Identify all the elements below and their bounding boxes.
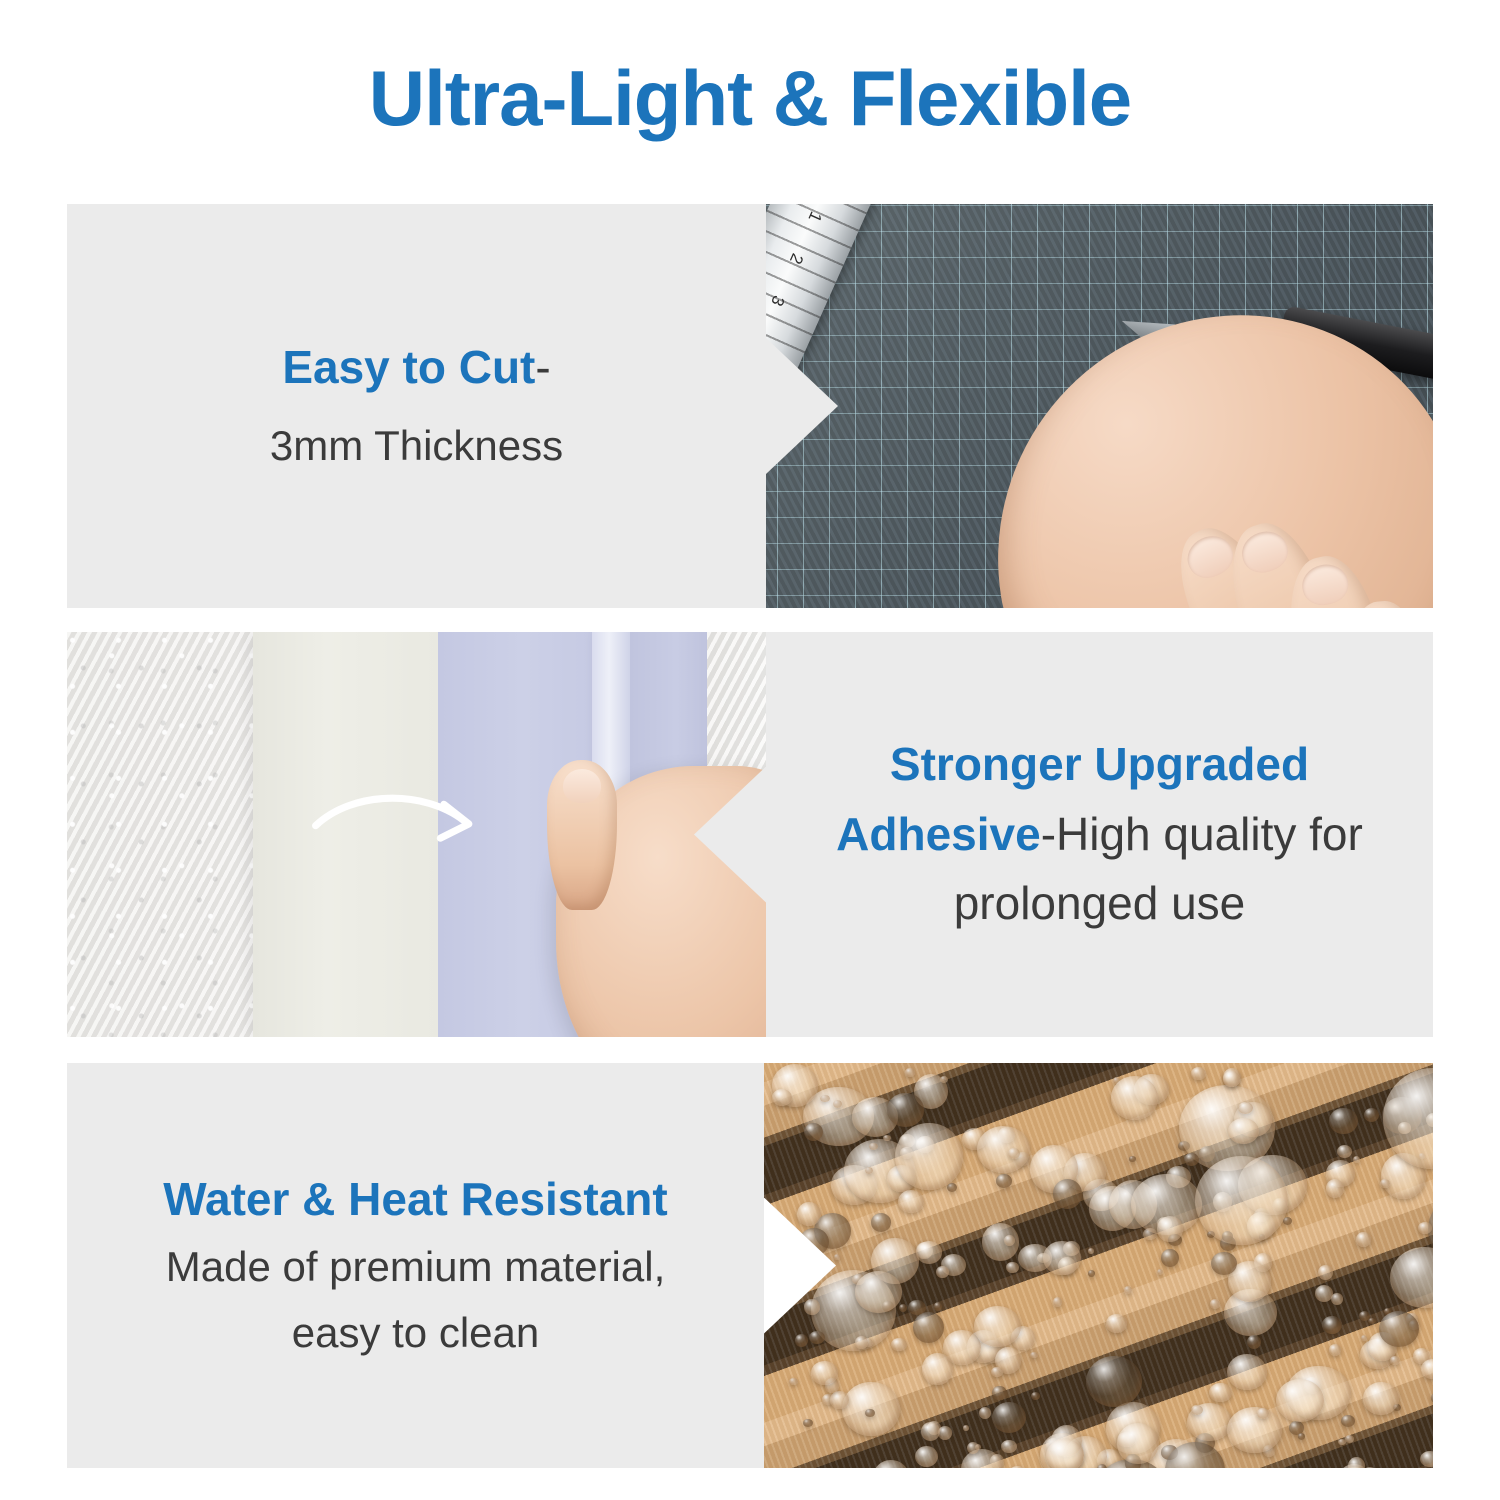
water-droplet <box>1157 1216 1183 1241</box>
water-droplet <box>1315 1285 1333 1302</box>
water-droplet <box>1418 1222 1432 1234</box>
water-droplet <box>809 1331 825 1344</box>
feature-headline-line-1: Stronger Upgraded <box>890 738 1309 790</box>
water-droplet <box>811 1361 838 1385</box>
water-droplet <box>1031 1392 1040 1400</box>
feature-headline-dash: - <box>535 341 550 393</box>
thumb <box>547 760 617 910</box>
water-droplet <box>913 1312 943 1343</box>
cutting-slat-panel-photo: 10123456789201 <box>766 204 1433 608</box>
water-droplet <box>1348 1457 1365 1468</box>
water-droplet <box>1238 1102 1253 1114</box>
water-droplet <box>1318 1265 1333 1280</box>
water-droplet <box>869 1143 877 1150</box>
feature-text-water-heat-resistant: Water & Heat Resistant Made of premium m… <box>67 1063 764 1468</box>
water-droplet <box>1324 1318 1341 1335</box>
water-droplet <box>992 1402 1026 1433</box>
water-droplets-on-slat-photo <box>764 1063 1433 1468</box>
water-droplet <box>855 1271 902 1313</box>
feature-headline-dash: - <box>1041 808 1056 860</box>
water-droplet <box>1227 1407 1282 1453</box>
water-droplet <box>1124 1286 1132 1294</box>
water-droplet <box>1043 1241 1081 1275</box>
water-droplet <box>963 1425 969 1431</box>
curved-right-arrow-icon <box>298 774 501 863</box>
water-droplet <box>1008 1148 1020 1159</box>
water-droplet <box>1431 1392 1433 1404</box>
water-droplet <box>921 1422 940 1441</box>
water-droplet <box>1390 1356 1400 1365</box>
water-droplet <box>1283 1217 1292 1225</box>
water-droplets <box>764 1063 1433 1468</box>
feature-text-easy-to-cut: Easy to Cut- 3mm Thickness <box>67 204 766 608</box>
water-droplet <box>992 1386 1007 1401</box>
water-droplet <box>789 1378 797 1385</box>
feature-headline-text: Easy to Cut <box>282 341 535 393</box>
water-droplet <box>1046 1439 1083 1468</box>
water-droplet <box>1157 1269 1163 1275</box>
water-droplet <box>795 1334 808 1347</box>
feature-body-line-2: prolonged use <box>954 877 1246 929</box>
feature-text-stronger-upgraded-adhesive: Stronger Upgraded Adhesive-High quality … <box>766 632 1433 1037</box>
feature-image-easy-to-cut: 10123456789201 <box>766 204 1433 608</box>
ruler-number: 4 <box>766 335 770 352</box>
water-droplet <box>1161 1249 1179 1267</box>
peel-and-stick-wallpaper-photo <box>67 632 766 1037</box>
water-droplet <box>1326 1179 1344 1198</box>
water-droplet <box>1223 1071 1239 1087</box>
thumbnail <box>563 769 601 803</box>
water-droplet <box>898 1190 924 1213</box>
water-droplet <box>1106 1314 1127 1333</box>
water-droplet <box>772 1302 787 1315</box>
water-droplet <box>1053 1179 1083 1209</box>
water-droplet <box>996 1174 1012 1187</box>
feature-subline-line-1: Made of premium material, <box>166 1236 666 1298</box>
water-droplet <box>905 1068 914 1076</box>
feature-panel-stronger-upgraded-adhesive: Stronger Upgraded Adhesive-High quality … <box>67 632 1433 1037</box>
feature-headline-stronger-upgraded-adhesive: Stronger Upgraded Adhesive-High quality … <box>836 730 1363 940</box>
water-droplet <box>1008 1466 1027 1468</box>
water-droplet <box>1364 1108 1380 1122</box>
ruler-number: 2 <box>785 250 807 267</box>
feature-headline-easy-to-cut: Easy to Cut- <box>282 335 550 400</box>
water-droplet <box>1184 1153 1199 1166</box>
water-droplet <box>991 1367 1003 1377</box>
water-droplet <box>979 1407 991 1420</box>
water-droplet <box>899 1304 907 1311</box>
water-droplet <box>1420 1451 1433 1467</box>
feature-subline-easy-to-cut: 3mm Thickness <box>270 415 563 477</box>
water-droplet <box>820 1095 829 1103</box>
water-droplet <box>1227 1354 1267 1391</box>
water-droplet <box>891 1338 907 1351</box>
water-droplet <box>1353 1156 1360 1163</box>
water-droplet <box>804 1299 820 1314</box>
water-droplet <box>1209 1383 1232 1403</box>
water-droplet <box>834 1254 840 1259</box>
water-droplet <box>1210 1299 1221 1309</box>
water-droplet <box>1004 1235 1015 1246</box>
water-droplet <box>1117 1423 1159 1464</box>
fingernail <box>1236 526 1292 578</box>
water-droplet <box>1088 1248 1094 1254</box>
water-droplet <box>873 1460 909 1468</box>
water-droplet <box>1211 1252 1236 1275</box>
feature-body-tail: High quality for <box>1056 808 1363 860</box>
water-droplet <box>1247 1335 1261 1348</box>
water-droplet <box>1390 1247 1433 1308</box>
water-droplet <box>1329 1344 1342 1356</box>
water-droplet <box>1195 1156 1287 1245</box>
page-title: Ultra-Light & Flexible <box>0 58 1500 140</box>
water-droplet <box>934 1302 942 1310</box>
water-droplet <box>916 1241 942 1264</box>
water-droplet <box>1329 1108 1357 1134</box>
water-droplet <box>922 1353 953 1385</box>
water-droplet <box>1006 1262 1019 1274</box>
water-droplet <box>1345 1435 1354 1443</box>
feature-headline-line-2: Adhesive <box>836 808 1041 860</box>
water-droplet <box>1191 1067 1206 1080</box>
water-droplet <box>1421 1359 1433 1379</box>
water-droplet <box>1053 1297 1063 1307</box>
water-droplet <box>1337 1145 1352 1158</box>
feature-panel-easy-to-cut: Easy to Cut- 3mm Thickness 1012345678920… <box>67 204 1433 608</box>
water-droplet <box>938 1426 952 1440</box>
water-droplet <box>1338 1439 1345 1445</box>
water-droplet <box>1298 1433 1306 1440</box>
water-droplet <box>1356 1232 1370 1246</box>
water-droplet <box>908 1300 926 1315</box>
water-droplet <box>865 1167 872 1175</box>
water-droplet <box>1111 1076 1158 1120</box>
water-droplet <box>936 1266 949 1278</box>
water-droplet <box>1088 1270 1095 1277</box>
water-droplet <box>803 1419 813 1427</box>
feature-headline-water-heat-resistant: Water & Heat Resistant <box>163 1167 667 1232</box>
water-droplet <box>1380 1179 1390 1188</box>
ruler-number: 1 <box>804 208 826 225</box>
water-droplet <box>977 1126 1031 1173</box>
water-droplet <box>1379 1311 1419 1347</box>
water-droplet <box>799 1228 829 1256</box>
water-droplet <box>1001 1440 1017 1453</box>
water-droplet <box>1086 1356 1142 1408</box>
fingernail <box>1299 561 1352 608</box>
water-droplet <box>1257 1408 1269 1419</box>
water-droplet <box>1361 1335 1368 1341</box>
infographic-page: Ultra-Light & Flexible Easy to Cut- 3mm … <box>0 0 1500 1500</box>
water-droplet <box>887 1093 925 1126</box>
feature-subline-line-2: easy to clean <box>292 1302 540 1364</box>
feature-panel-water-heat-resistant: Water & Heat Resistant Made of premium m… <box>67 1063 1433 1468</box>
water-droplet <box>974 1306 1021 1347</box>
water-droplet <box>1129 1156 1136 1162</box>
water-droplet <box>883 1135 891 1141</box>
water-droplet <box>895 1123 963 1190</box>
feature-image-water-heat-resistant <box>764 1063 1433 1468</box>
water-droplet <box>797 1202 821 1226</box>
water-droplet <box>961 1449 1003 1468</box>
water-droplet <box>833 1100 842 1108</box>
ruler-number: 3 <box>766 292 788 309</box>
feature-image-stronger-upgraded-adhesive <box>67 632 766 1037</box>
fingernail <box>1181 529 1240 585</box>
water-droplet <box>1363 1382 1399 1414</box>
water-droplet <box>915 1446 938 1468</box>
water-droplet <box>1383 1068 1433 1169</box>
water-droplet <box>1341 1415 1356 1427</box>
water-droplet <box>871 1213 891 1232</box>
water-droplet <box>1030 1352 1038 1359</box>
water-droplet <box>830 1391 850 1409</box>
